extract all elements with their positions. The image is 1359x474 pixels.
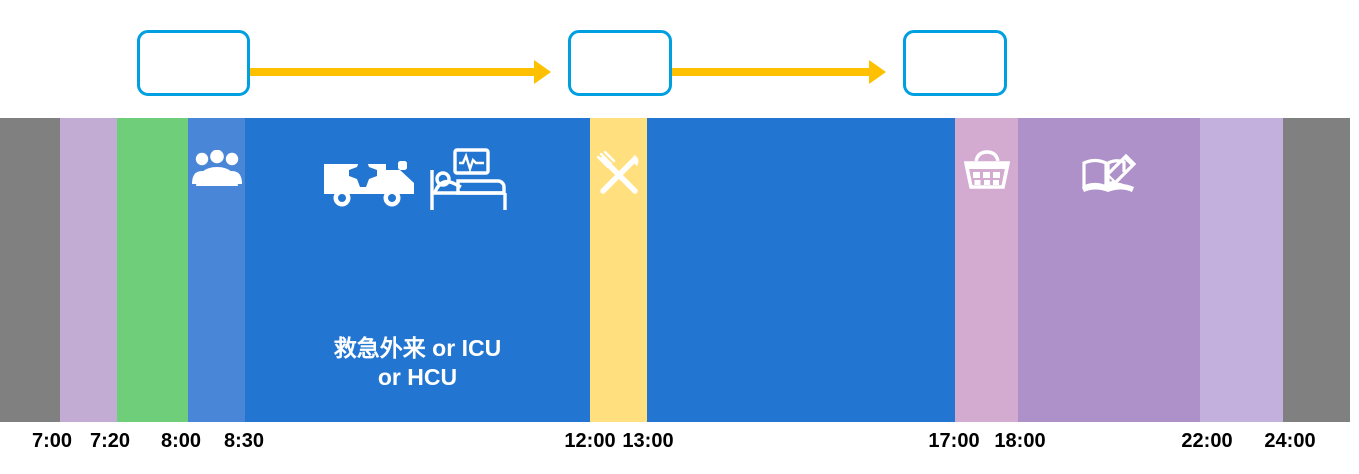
axis-tick-12-00: 12:00 [564,426,615,456]
callout-0[interactable] [137,2,250,98]
schedule-timeline-infographic: 救急外来 or ICUor HCU [0,0,1359,474]
ambulance-icon [324,159,414,207]
patient-bed-monitor-icon [432,150,505,210]
segment-sleep-early[interactable] [0,118,60,422]
axis-tick-13-00: 13:00 [622,426,673,456]
time-axis: 7:007:208:008:3012:0013:0017:0018:0022:0… [0,426,1359,474]
callout-box[interactable] [568,30,672,96]
segment-icon [1018,154,1200,196]
pencil-icon [1106,156,1134,184]
axis-tick-7-00: 7:00 [32,426,72,456]
people-group-icon [191,150,243,192]
segment-shopping[interactable] [955,118,1018,422]
segment-sleep-night[interactable] [1283,118,1350,422]
segment-lunch[interactable] [590,118,647,422]
timeline-bar: 救急外来 or ICUor HCU [0,118,1359,422]
segment-study-hobby[interactable] [1018,118,1200,422]
segment-icon [245,148,590,214]
axis-tick-7-20: 7:20 [90,426,130,456]
segment-care-after[interactable] [647,118,955,422]
flow-arrow-head-0 [534,60,551,84]
flow-arrow-line-1 [672,68,870,76]
segment-commute[interactable] [117,118,188,422]
sublabel-line-1: 救急外来 or ICU [334,334,501,363]
segment-icon [590,150,647,200]
axis-tick-8-00: 8:00 [161,426,201,456]
axis-tick-17-00: 17:00 [928,426,979,456]
segment-care-morning[interactable]: 救急外来 or ICUor HCU [245,118,590,422]
shopping-basket-icon [964,150,1010,190]
segment-sublabel: 救急外来 or ICUor HCU [334,334,501,392]
flow-arrow-line-0 [250,68,535,76]
segment-icon [955,150,1018,190]
segment-wakeup[interactable] [60,118,117,422]
book-and-pencil-icon [1081,154,1137,196]
callout-2[interactable] [903,2,1007,98]
segment-icon [188,150,245,192]
segment-evening[interactable] [1200,118,1283,422]
fork-and-knife-icon [594,150,644,200]
axis-tick-8-30: 8:30 [224,426,264,456]
ambulance-and-patient-bed-icon [322,148,514,214]
axis-tick-22-00: 22:00 [1181,426,1232,456]
callout-box[interactable] [903,30,1007,96]
callout-1[interactable] [568,2,672,98]
segment-conference[interactable] [188,118,245,422]
callout-box[interactable] [137,30,250,96]
sublabel-line-2: or HCU [334,363,501,392]
flow-arrow-head-1 [869,60,886,84]
axis-tick-18-00: 18:00 [994,426,1045,456]
axis-tick-24-00: 24:00 [1264,426,1315,456]
